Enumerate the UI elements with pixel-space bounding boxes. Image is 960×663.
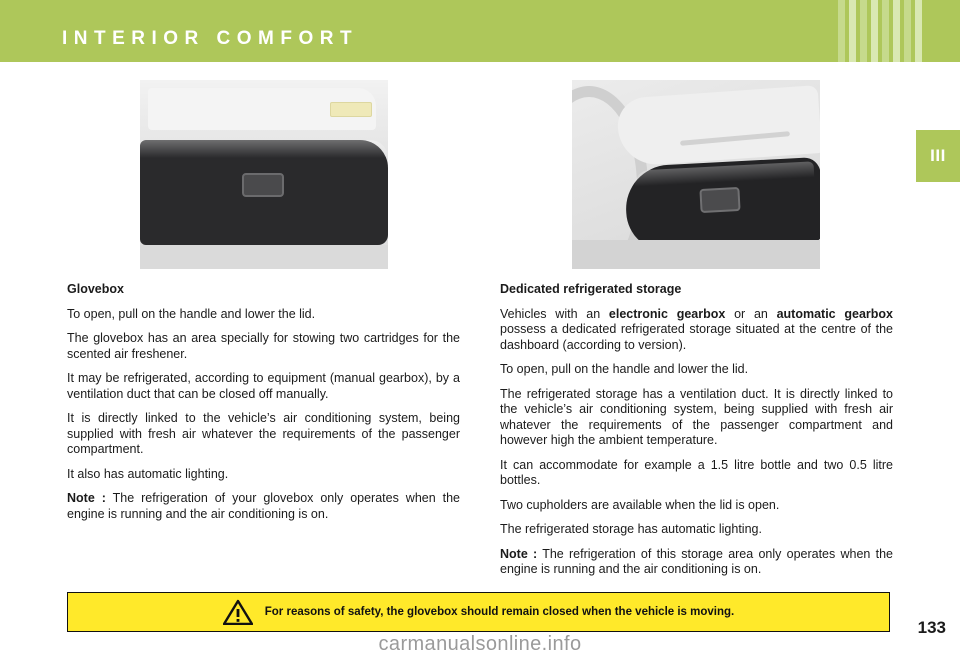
right-paragraph-5: The refrigerated storage has automatic l… [500, 522, 893, 538]
right-intro-suffix: possess a dedicated refrigerated storage… [500, 322, 893, 352]
right-intro-paragraph: Vehicles with an electronic gearbox or a… [500, 307, 893, 354]
header-bar [838, 0, 845, 62]
header-bar [915, 0, 922, 62]
header-bar [849, 0, 856, 62]
left-paragraph-3: It may be refrigerated, according to equ… [67, 371, 460, 402]
glovebox-closed-photo [140, 80, 388, 269]
watermark: carmanualsonline.info [0, 633, 960, 656]
storage-handle [699, 187, 740, 213]
right-note: Note : The refrigeration of this storage… [500, 547, 893, 578]
air-vent [330, 102, 372, 117]
warning-text: For reasons of safety, the glovebox shou… [265, 606, 734, 618]
header-bar [904, 0, 911, 62]
left-paragraph-5: It also has automatic lighting. [67, 467, 460, 483]
header-bar [871, 0, 878, 62]
header-bar [860, 0, 867, 62]
right-intro-mid: or an [725, 307, 776, 321]
left-paragraph-1: To open, pull on the handle and lower th… [67, 307, 460, 323]
left-note: Note : The refrigeration of your glovebo… [67, 491, 460, 522]
right-intro-prefix: Vehicles with an [500, 307, 609, 321]
left-paragraph-2: The glovebox has an area specially for s… [67, 331, 460, 362]
page-header: INTERIOR COMFORT [0, 0, 960, 62]
header-bar [882, 0, 889, 62]
photo-lower-trim [572, 240, 820, 269]
page-title: INTERIOR COMFORT [62, 28, 358, 50]
right-note-text: The refrigeration of this storage area o… [500, 547, 893, 577]
glovebox-handle [242, 173, 284, 197]
right-paragraph-3: It can accommodate for example a 1.5 lit… [500, 458, 893, 489]
right-paragraph-1: To open, pull on the handle and lower th… [500, 362, 893, 378]
warning-triangle-icon [223, 599, 253, 625]
chapter-tab: III [916, 130, 960, 182]
right-note-label: Note : [500, 547, 537, 561]
right-intro-bold-2: automatic gearbox [777, 307, 893, 321]
right-column-heading: Dedicated refrigerated storage [500, 282, 893, 298]
header-decorative-bars [838, 0, 946, 62]
left-note-label: Note : [67, 491, 106, 505]
header-bar [893, 0, 900, 62]
left-column-heading: Glovebox [67, 282, 460, 298]
glovebox-lid-highlight [140, 140, 388, 158]
left-paragraph-4: It is directly linked to the vehicle’s a… [67, 411, 460, 458]
safety-warning-banner: For reasons of safety, the glovebox shou… [67, 592, 890, 632]
dashboard-refrigerated-storage-photo [572, 80, 820, 269]
photo-lower-trim [140, 245, 388, 269]
left-text-column: Glovebox To open, pull on the handle and… [67, 282, 460, 522]
left-note-text: The refrigeration of your glovebox only … [67, 491, 460, 521]
right-paragraph-2: The refrigerated storage has a ventilati… [500, 387, 893, 449]
right-paragraph-4: Two cupholders are available when the li… [500, 498, 893, 514]
dashboard-upper-panel [616, 85, 820, 167]
right-text-column: Dedicated refrigerated storage Vehicles … [500, 282, 893, 578]
right-intro-bold-1: electronic gearbox [609, 307, 725, 321]
